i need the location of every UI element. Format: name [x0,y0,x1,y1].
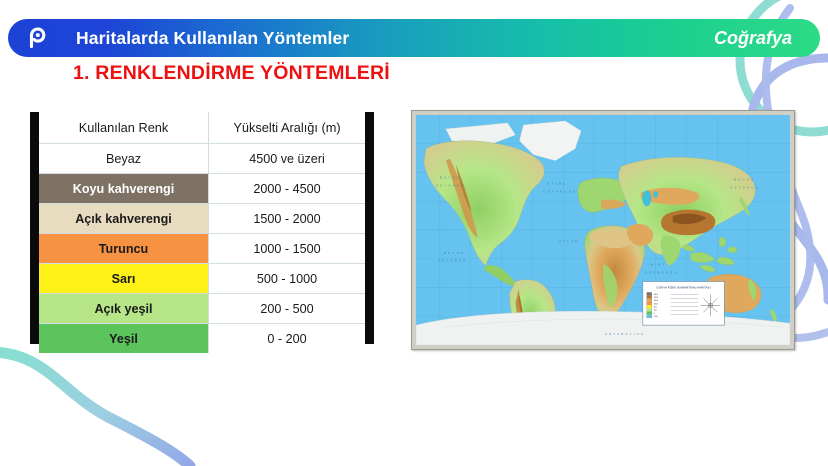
svg-text:O K Y A N U S U: O K Y A N U S U [645,271,678,275]
map-image: DÜNYA FİZİKİ (KABARTMA) HARİTASI 4500 20… [416,115,790,345]
svg-text:B Ü Y Ü K: B Ü Y Ü K [440,175,460,179]
elevation-range-cell: 1500 - 2000 [209,204,365,234]
svg-text:0: 0 [654,313,655,315]
elevation-range-cell: 0 - 200 [209,324,365,354]
svg-text:4500: 4500 [654,294,658,296]
svg-text:O K Y A N U S: O K Y A N U S [730,185,758,189]
world-physical-elevation-map: DÜNYA FİZİKİ (KABARTMA) HARİTASI 4500 20… [411,110,795,350]
table-left-edge-bar [30,112,39,344]
table-row: Sarı500 - 1000 [39,264,365,294]
elevation-range-cell: 2000 - 4500 [209,174,365,204]
svg-text:1500: 1500 [654,300,658,302]
svg-text:500: 500 [654,307,657,309]
color-swatch-cell: Yeşil [39,324,209,354]
svg-text:A T L A S: A T L A S [559,239,577,243]
svg-text:B Ü Y Ü K: B Ü Y Ü K [734,177,754,181]
table-row: Koyu kahverengi2000 - 4500 [39,174,365,204]
color-swatch-cell: Koyu kahverengi [39,174,209,204]
table-row: Açık kahverengi1500 - 2000 [39,204,365,234]
header-title: Haritalarda Kullanılan Yöntemler [76,19,349,57]
table-row: Beyaz4500 ve üzeri [39,144,365,174]
table-column-header: Kullanılan Renk [39,112,209,144]
svg-text:1000: 1000 [654,303,658,305]
table-row: Turuncu1000 - 1500 [39,234,365,264]
table-header-row: Kullanılan RenkYükselti Aralığı (m) [39,112,365,144]
svg-text:A T L A S: A T L A S [547,181,565,185]
table-row: Yeşil0 - 200 [39,324,365,354]
slide-header-bar: Haritalarda Kullanılan Yöntemler Coğrafy… [8,19,820,57]
color-swatch-cell: Turuncu [39,234,209,264]
map-legend-inset: DÜNYA FİZİKİ (KABARTMA) HARİTASI 4500 20… [643,282,725,326]
svg-text:2000: 2000 [654,297,658,299]
svg-text:B Ü Y Ü K: B Ü Y Ü K [444,251,464,255]
decor-curve-bottom-left [0,352,190,466]
header-subject-label: Coğrafya [714,19,792,57]
svg-text:O K Y A N U S: O K Y A N U S [436,183,464,187]
table-row: Açık yeşil200 - 500 [39,294,365,324]
table-right-edge-bar [365,112,374,344]
table-column-header: Yükselti Aralığı (m) [209,112,365,144]
color-swatch-cell: Beyaz [39,144,209,174]
page-title: 1. RENKLENDİRME YÖNTEMLERİ [73,62,390,85]
color-swatch-cell: Sarı [39,264,209,294]
elevation-color-legend-table: Kullanılan RenkYükselti Aralığı (m)Beyaz… [30,112,374,344]
prosev-p-logo-icon [22,25,48,51]
color-swatch-cell: Açık kahverengi [39,204,209,234]
svg-text:DÜNYA FİZİKİ (KABARTMA) HARİTA: DÜNYA FİZİKİ (KABARTMA) HARİTASI [657,284,711,289]
elevation-range-cell: 500 - 1000 [209,264,365,294]
svg-text:200: 200 [654,310,657,312]
elevation-range-cell: 4500 ve üzeri [209,144,365,174]
svg-text:-200: -200 [654,316,658,318]
elevation-range-cell: 200 - 500 [209,294,365,324]
elevation-range-cell: 1000 - 1500 [209,234,365,264]
svg-text:O K Y A N U S U: O K Y A N U S U [543,189,576,193]
color-swatch-cell: Açık yeşil [39,294,209,324]
svg-text:O K Y A N U S: O K Y A N U S [438,259,466,263]
